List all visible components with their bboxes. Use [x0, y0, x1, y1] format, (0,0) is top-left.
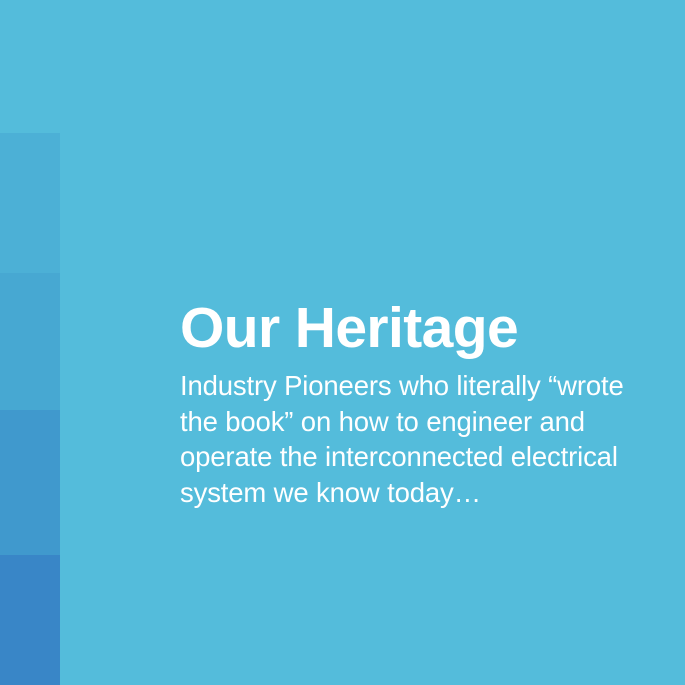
sidebar-block-4 — [0, 555, 60, 685]
slide-text-content: Our Heritage Industry Pioneers who liter… — [180, 296, 650, 510]
page-body-text: Industry Pioneers who literally “wrote t… — [180, 360, 648, 510]
sidebar-stacked-blocks — [0, 133, 60, 685]
sidebar-block-2 — [0, 273, 60, 410]
sidebar-block-3 — [0, 410, 60, 555]
slide-canvas: Our Heritage Industry Pioneers who liter… — [0, 0, 685, 685]
sidebar-block-1 — [0, 133, 60, 273]
page-title: Our Heritage — [180, 296, 650, 360]
